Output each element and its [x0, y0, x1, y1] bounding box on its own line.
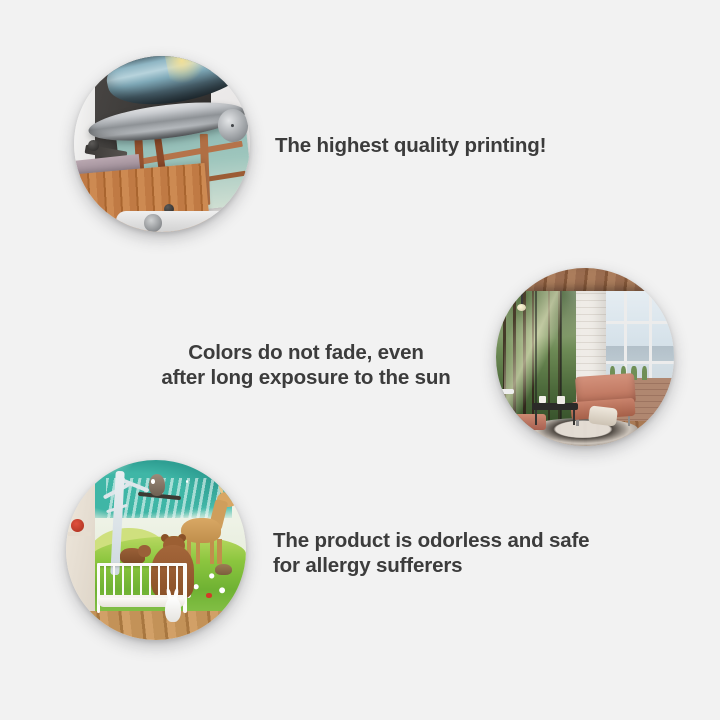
feature-text-printing-quality: The highest quality printing! [275, 133, 546, 158]
loft-interior-forest-mural-photo [496, 268, 674, 446]
feature-line: after long exposure to the sun [156, 365, 456, 390]
printing-press-photo [74, 56, 250, 232]
feature-line: for allergy sufferers [273, 553, 589, 578]
feature-line: The product is odorless and safe [273, 528, 589, 553]
nursery-animal-mural-photo [66, 460, 246, 640]
promo-feature-board: The highest quality printing! [0, 0, 720, 720]
feature-line: The highest quality printing! [275, 133, 546, 158]
feature-text-odorless-safe: The product is odorless and safe for all… [273, 528, 589, 578]
feature-text-colorfast: Colors do not fade, even after long expo… [156, 340, 456, 390]
feature-line: Colors do not fade, even [156, 340, 456, 365]
